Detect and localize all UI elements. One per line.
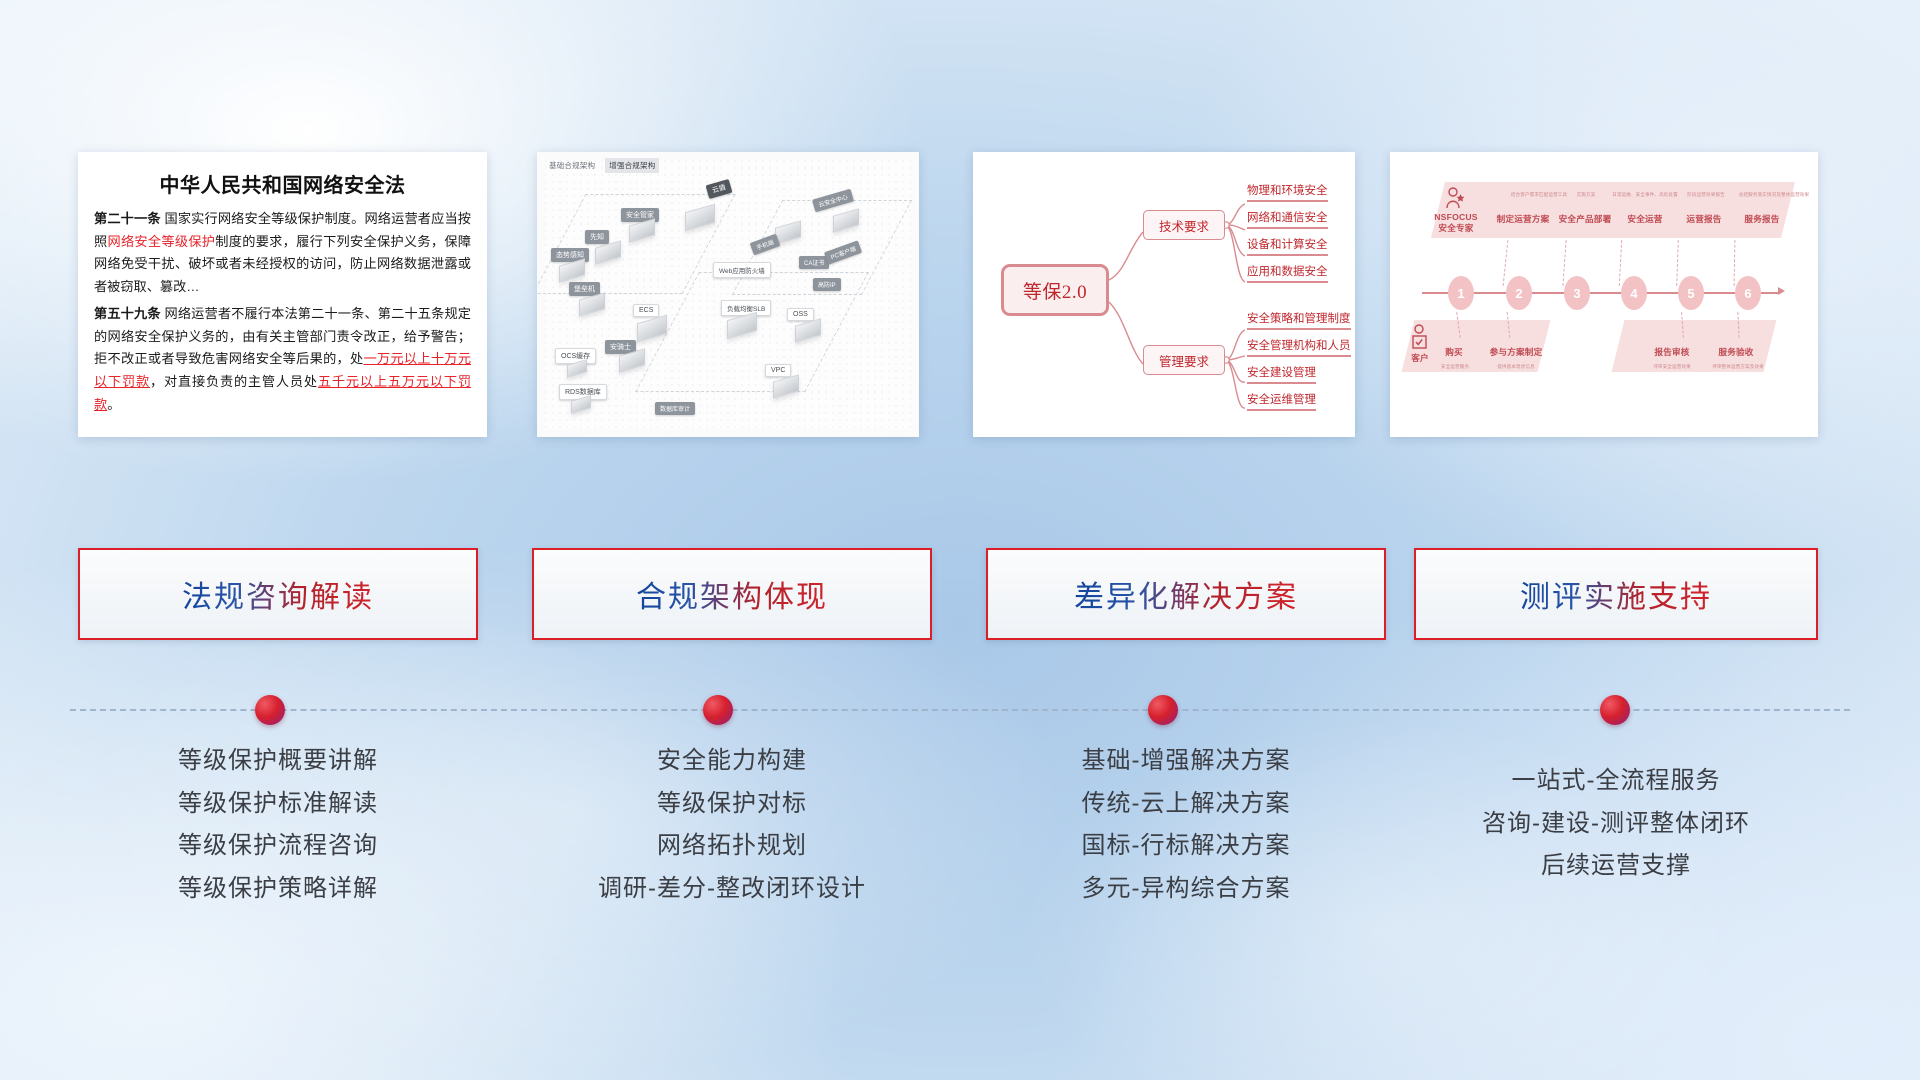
expert-icon bbox=[1444, 186, 1466, 210]
list-item: 基础-增强解决方案 bbox=[986, 740, 1386, 783]
node-ecs: ECS bbox=[633, 304, 659, 317]
list-item: 安全能力构建 bbox=[532, 740, 932, 783]
card-compliance-architecture[interactable]: 基础合规架构 增强合规架构 云盾 云安全中心 安全管家 先知 态势感知 堡垒机 bbox=[537, 152, 919, 437]
mindmap-leaf-construction-mgmt: 安全建设管理 bbox=[1247, 364, 1316, 384]
section-title-label-2: 合规架构体现 bbox=[636, 572, 828, 616]
article-59-text-3: 。 bbox=[107, 397, 120, 412]
list-item: 咨询-建设-测评整体闭环 bbox=[1414, 803, 1818, 846]
article-59-text-2: ，对直接负责的主管人员处 bbox=[150, 374, 318, 389]
flow-bottom-sub-1: 安全运营服务 bbox=[1430, 364, 1480, 370]
section-items-2: 安全能力构建 等级保护对标 网络拓扑规划 调研-差分-整改闭环设计 bbox=[532, 740, 932, 911]
flow-node-1: 1 bbox=[1448, 276, 1474, 310]
flow-connector-5 bbox=[1676, 240, 1679, 286]
timeline-dot-1[interactable] bbox=[255, 695, 285, 725]
section-title-row: 法规咨询解读 合规架构体现 差异化解决方案 测评实施支持 bbox=[0, 548, 1920, 640]
section-title-box-3[interactable]: 差异化解决方案 bbox=[986, 548, 1386, 640]
article-59-label: 第五十九条 bbox=[94, 306, 161, 321]
law-title: 中华人民共和国网络安全法 bbox=[78, 169, 487, 198]
timeline bbox=[0, 695, 1920, 725]
flow-bottom-title-3: 报告审核 bbox=[1642, 346, 1702, 358]
flow-bottom-title-1: 购买 bbox=[1434, 346, 1474, 358]
list-item: 调研-差分-整改闭环设计 bbox=[532, 868, 932, 911]
customer-icon bbox=[1410, 324, 1430, 350]
node-ca-certificate: CA证书 bbox=[799, 256, 829, 269]
flow-connector-2 bbox=[1503, 240, 1509, 286]
flow-top-title-5: 服务报告 bbox=[1724, 213, 1800, 225]
mindmap: 等保2.0 技术要求 管理要求 物理和环境安全 网络和通信安全 设备和计算安全 … bbox=[973, 152, 1355, 437]
flow-node-2: 2 bbox=[1506, 276, 1532, 310]
timeline-dashed-line bbox=[70, 709, 1850, 711]
list-item: 一站式-全流程服务 bbox=[1414, 760, 1818, 803]
mindmap-leaf-operation-mgmt: 安全运维管理 bbox=[1247, 391, 1316, 411]
timeline-dot-3[interactable] bbox=[1148, 695, 1178, 725]
node-vpc: VPC bbox=[765, 364, 791, 377]
node-oss: OSS bbox=[787, 308, 814, 321]
list-item: 等级保护策略详解 bbox=[78, 868, 478, 911]
flow-connector-6 bbox=[1734, 240, 1736, 286]
flow-bottom-title-2: 参与方案制定 bbox=[1478, 346, 1554, 358]
article-21-label: 第二十一条 bbox=[94, 211, 161, 226]
flow-bottom-title-4: 服务验收 bbox=[1706, 346, 1766, 358]
flow-node-4: 4 bbox=[1621, 276, 1647, 310]
architecture-tabs[interactable]: 基础合规架构 增强合规架构 bbox=[545, 158, 659, 173]
law-article-21: 第二十一条 国家实行网络安全等级保护制度。网络运营者应当按照网络安全等级保护制度… bbox=[94, 208, 471, 299]
list-item: 等级保护概要讲解 bbox=[78, 740, 478, 783]
timeline-dot-4[interactable] bbox=[1600, 695, 1630, 725]
slide-page: 中华人民共和国网络安全法 第二十一条 国家实行网络安全等级保护制度。网络运营者应… bbox=[0, 0, 1920, 1080]
section-items-3: 基础-增强解决方案 传统-云上解决方案 国标-行标解决方案 多元-异构综合方案 bbox=[986, 740, 1386, 911]
article-21-highlight: 网络安全等级保护 bbox=[107, 234, 215, 249]
node-database-audit: 数据库审计 bbox=[655, 402, 695, 415]
node-anti-ddos-ip: 高防IP bbox=[813, 278, 841, 291]
law-article-59: 第五十九条 网络运营者不履行本法第二十一条、第二十五条规定的网络安全保护义务的，… bbox=[94, 303, 471, 417]
card-row: 中华人民共和国网络安全法 第二十一条 国家实行网络安全等级保护制度。网络运营者应… bbox=[0, 152, 1920, 444]
architecture-diagram: 基础合规架构 增强合规架构 云盾 云安全中心 安全管家 先知 态势感知 堡垒机 bbox=[537, 152, 919, 437]
mindmap-leaf-app-data: 应用和数据安全 bbox=[1247, 263, 1328, 283]
list-item: 等级保护流程咨询 bbox=[78, 825, 478, 868]
flow-bottom-sub-2: 提供基本现状信息 bbox=[1478, 364, 1554, 370]
card-cybersecurity-law[interactable]: 中华人民共和国网络安全法 第二十一条 国家实行网络安全等级保护制度。网络运营者应… bbox=[78, 152, 487, 437]
flow-timeline-arrow-icon bbox=[1778, 287, 1785, 295]
tab-enhanced-architecture[interactable]: 增强合规架构 bbox=[605, 158, 659, 173]
mindmap-leaf-policy-system: 安全策略和管理制度 bbox=[1247, 310, 1351, 330]
list-item: 多元-异构综合方案 bbox=[986, 868, 1386, 911]
node-waf: Web应用防火墙 bbox=[713, 262, 771, 278]
tab-basic-architecture[interactable]: 基础合规架构 bbox=[545, 158, 599, 173]
mindmap-leaf-device-compute: 设备和计算安全 bbox=[1247, 236, 1328, 256]
mindmap-branch-management: 管理要求 bbox=[1143, 345, 1225, 375]
section-items-4: 一站式-全流程服务 咨询-建设-测评整体闭环 后续运营支撑 bbox=[1414, 760, 1818, 888]
list-item: 后续运营支撑 bbox=[1414, 845, 1818, 888]
section-title-label-1: 法规咨询解读 bbox=[182, 572, 374, 616]
section-title-label-3: 差异化解决方案 bbox=[1074, 572, 1298, 616]
mindmap-leaf-physical-env: 物理和环境安全 bbox=[1247, 182, 1328, 202]
mindmap-leaf-org-personnel: 安全管理机构和人员 bbox=[1247, 337, 1351, 357]
section-title-box-4[interactable]: 测评实施支持 bbox=[1414, 548, 1818, 640]
list-item: 传统-云上解决方案 bbox=[986, 783, 1386, 826]
flow-bottom-role-label: 客户 bbox=[1406, 352, 1434, 364]
section-title-box-1[interactable]: 法规咨询解读 bbox=[78, 548, 478, 640]
flow-timeline-axis bbox=[1422, 292, 1780, 294]
flow-node-5: 5 bbox=[1678, 276, 1704, 310]
mindmap-leaf-network-comm: 网络和通信安全 bbox=[1247, 209, 1328, 229]
list-item: 等级保护标准解读 bbox=[78, 783, 478, 826]
node-xianzhi: 先知 bbox=[585, 230, 609, 244]
flow-node-6: 6 bbox=[1735, 276, 1761, 310]
service-flow-diagram: NSFOCUS安全专家 客户 结合客户需求匹配运营工具 制定运营方案 实施方案 … bbox=[1390, 152, 1818, 437]
flow-bottom-sub-4: 评审整体运营方案及效果 bbox=[1698, 364, 1778, 370]
flow-connector-4 bbox=[1619, 240, 1622, 286]
card-dengbao-mindmap[interactable]: 等保2.0 技术要求 管理要求 物理和环境安全 网络和通信安全 设备和计算安全 … bbox=[973, 152, 1355, 437]
mindmap-branch-technical: 技术要求 bbox=[1143, 210, 1225, 240]
flow-top-role-label: NSFOCUS安全专家 bbox=[1426, 212, 1486, 233]
list-item: 国标-行标解决方案 bbox=[986, 825, 1386, 868]
timeline-dot-2[interactable] bbox=[703, 695, 733, 725]
section-items-1: 等级保护概要讲解 等级保护标准解读 等级保护流程咨询 等级保护策略详解 bbox=[78, 740, 478, 911]
mindmap-root: 等保2.0 bbox=[1001, 264, 1109, 316]
section-title-label-4: 测评实施支持 bbox=[1520, 572, 1712, 616]
law-body: 第二十一条 国家实行网络安全等级保护制度。网络运营者应当按照网络安全等级保护制度… bbox=[78, 198, 487, 416]
flow-top-sub-5: 总结服务落实情况及整体运营效果 bbox=[1710, 192, 1818, 198]
flow-node-3: 3 bbox=[1564, 276, 1590, 310]
list-item: 等级保护对标 bbox=[532, 783, 932, 826]
section-title-box-2[interactable]: 合规架构体现 bbox=[532, 548, 932, 640]
list-item: 网络拓扑规划 bbox=[532, 825, 932, 868]
card-service-flow[interactable]: NSFOCUS安全专家 客户 结合客户需求匹配运营工具 制定运营方案 实施方案 … bbox=[1390, 152, 1818, 437]
flow-connector-3 bbox=[1562, 240, 1566, 286]
